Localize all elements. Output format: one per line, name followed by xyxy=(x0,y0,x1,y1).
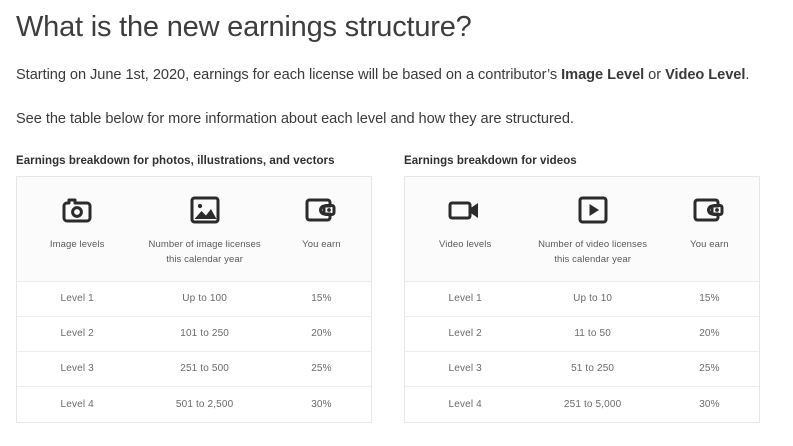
image-level-cell: Level 2 xyxy=(17,328,137,339)
image-levels-header-label: Image levels xyxy=(50,237,105,253)
intro-paragraph: Starting on June 1st, 2020, earnings for… xyxy=(16,64,777,88)
image-earnings-table: Image levels Number of image licenses th… xyxy=(16,176,372,423)
image-earn-header-cell: You earn xyxy=(272,191,371,268)
image-level-cell: Level 3 xyxy=(17,363,137,374)
image-earn-cell: 30% xyxy=(272,399,371,410)
video-level-cell: Level 3 xyxy=(405,363,525,374)
video-level-cell: Level 4 xyxy=(405,399,525,410)
video-licenses-cell: 251 to 5,000 xyxy=(525,399,660,410)
table-row: Level 1 Up to 100 15% xyxy=(17,282,371,317)
play-icon xyxy=(577,191,609,229)
image-licenses-cell: Up to 100 xyxy=(137,293,272,304)
video-table-caption: Earnings breakdown for videos xyxy=(404,155,760,167)
article-content: What is the new earnings structure? Star… xyxy=(0,0,793,132)
intro-text-prefix: Starting on June 1st, 2020, earnings for… xyxy=(16,67,561,83)
table-row: Level 2 101 to 250 20% xyxy=(17,317,371,352)
table-row: Level 1 Up to 10 15% xyxy=(405,282,759,317)
image-licenses-header-label: Number of image licenses this calendar y… xyxy=(143,237,266,268)
intro-text-suffix: . xyxy=(745,67,749,83)
video-licenses-cell: Up to 10 xyxy=(525,293,660,304)
wallet-icon xyxy=(305,191,337,229)
image-level-cell: Level 4 xyxy=(17,399,137,410)
image-levels-header-cell: Image levels xyxy=(17,191,137,268)
video-licenses-header-cell: Number of video licenses this calendar y… xyxy=(525,191,660,268)
video-earnings-block: Earnings breakdown for videos Video leve… xyxy=(404,155,760,423)
image-licenses-header-cell: Number of image licenses this calendar y… xyxy=(137,191,272,268)
paragraph-spacer xyxy=(16,88,777,108)
image-earnings-block: Earnings breakdown for photos, illustrat… xyxy=(16,155,372,423)
image-earn-cell: 25% xyxy=(272,363,371,374)
image-earn-cell: 20% xyxy=(272,328,371,339)
video-levels-header-label: Video levels xyxy=(439,237,491,253)
image-level-emphasis: Image Level xyxy=(561,67,644,83)
video-licenses-cell: 11 to 50 xyxy=(525,328,660,339)
video-level-cell: Level 1 xyxy=(405,293,525,304)
earnings-tables-container: Earnings breakdown for photos, illustrat… xyxy=(0,155,793,423)
video-camera-icon xyxy=(447,191,483,229)
intro-text-middle: or xyxy=(644,67,665,83)
secondary-paragraph: See the table below for more information… xyxy=(16,108,777,132)
video-licenses-cell: 51 to 250 xyxy=(525,363,660,374)
video-earn-cell: 25% xyxy=(660,363,759,374)
page-title: What is the new earnings structure? xyxy=(16,10,777,44)
video-licenses-header-label: Number of video licenses this calendar y… xyxy=(531,237,654,268)
camera-icon xyxy=(60,191,94,229)
image-table-header-row: Image levels Number of image licenses th… xyxy=(17,177,371,282)
video-earn-cell: 30% xyxy=(660,399,759,410)
table-row: Level 4 251 to 5,000 30% xyxy=(405,387,759,422)
video-levels-header-cell: Video levels xyxy=(405,191,525,268)
video-earn-cell: 15% xyxy=(660,293,759,304)
video-earn-header-cell: You earn xyxy=(660,191,759,268)
image-licenses-cell: 101 to 250 xyxy=(137,328,272,339)
image-table-caption: Earnings breakdown for photos, illustrat… xyxy=(16,155,372,167)
video-level-cell: Level 2 xyxy=(405,328,525,339)
picture-icon xyxy=(189,191,221,229)
video-earn-cell: 20% xyxy=(660,328,759,339)
table-row: Level 3 51 to 250 25% xyxy=(405,352,759,387)
image-licenses-cell: 501 to 2,500 xyxy=(137,399,272,410)
image-earn-cell: 15% xyxy=(272,293,371,304)
video-table-header-row: Video levels Number of video licenses th… xyxy=(405,177,759,282)
image-earn-header-label: You earn xyxy=(302,237,341,253)
video-level-emphasis: Video Level xyxy=(665,67,745,83)
image-level-cell: Level 1 xyxy=(17,293,137,304)
table-row: Level 3 251 to 500 25% xyxy=(17,352,371,387)
table-row: Level 4 501 to 2,500 30% xyxy=(17,387,371,422)
video-earnings-table: Video levels Number of video licenses th… xyxy=(404,176,760,423)
wallet-icon xyxy=(693,191,725,229)
image-licenses-cell: 251 to 500 xyxy=(137,363,272,374)
table-row: Level 2 11 to 50 20% xyxy=(405,317,759,352)
video-earn-header-label: You earn xyxy=(690,237,729,253)
